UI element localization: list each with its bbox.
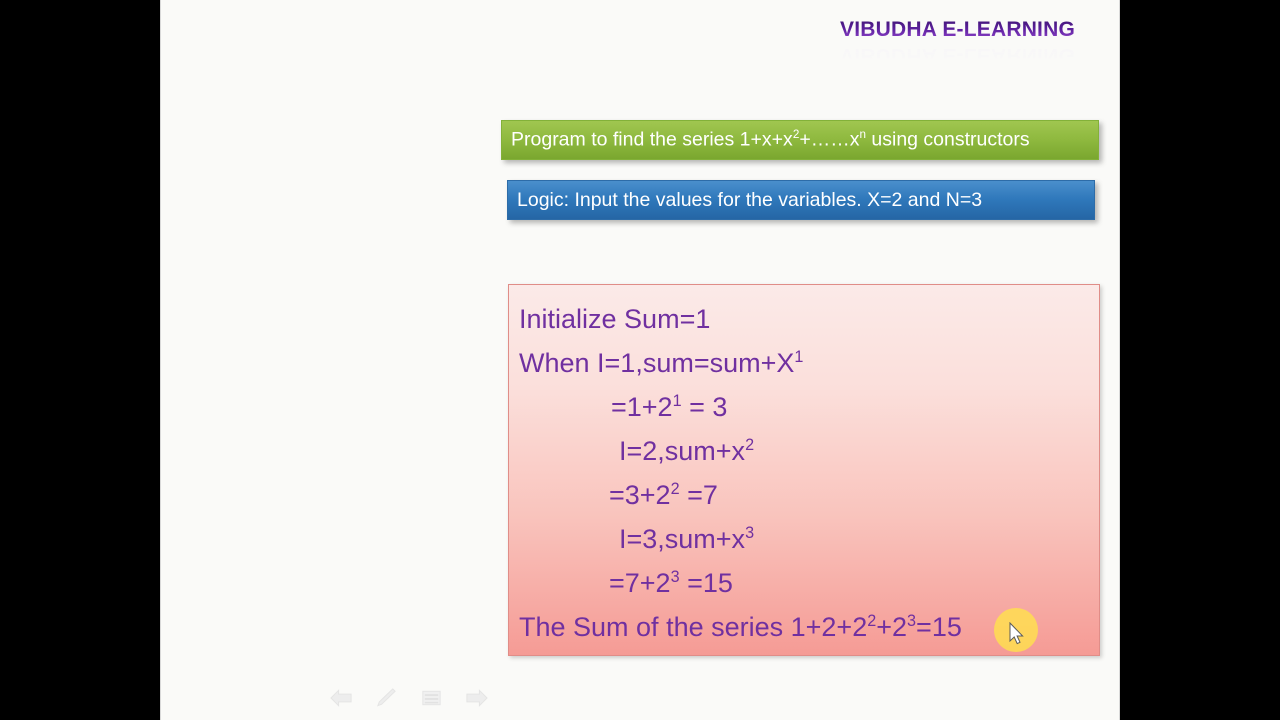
line-text: +2 [876, 612, 907, 642]
letterbox-right [1120, 0, 1280, 720]
previous-slide-icon[interactable] [329, 686, 354, 710]
content-line: I=3,sum+x3 [509, 517, 1099, 561]
brand-title: VIBUDHA E-LEARNING [840, 18, 1075, 42]
presentation-slide: VIBUDHA E-LEARNING VIBUDHA E-LEARNING Pr… [160, 0, 1120, 720]
line-text: =7 [680, 480, 718, 510]
calculation-content-box: Initialize Sum=1When I=1,sum=sum+X1=1+21… [508, 284, 1100, 656]
slide-menu-icon[interactable] [419, 686, 444, 710]
slideshow-toolbar[interactable] [329, 682, 489, 714]
line-text: The Sum of the series 1+2+2 [519, 612, 867, 642]
line-text: I=2,sum+x [619, 436, 745, 466]
exponent: 2 [867, 612, 876, 630]
exponent: 3 [907, 612, 916, 630]
next-slide-icon[interactable] [464, 686, 489, 710]
exponent: 3 [671, 568, 680, 586]
exponent: 2 [671, 480, 680, 498]
banner-green-text: Program to find the series 1+x+x2+……xn u… [511, 128, 1030, 152]
line-text: =15 [680, 568, 733, 598]
brand-logo: VIBUDHA E-LEARNING VIBUDHA E-LEARNING [840, 18, 1075, 67]
line-text: =1+2 [611, 392, 673, 422]
line-text: =7+2 [609, 568, 671, 598]
line-text: When I=1,sum=sum+X [519, 348, 794, 378]
exponent: 1 [794, 348, 803, 366]
banner-blue-text: Logic: Input the values for the variable… [517, 189, 982, 212]
brand-title-reflection: VIBUDHA E-LEARNING [840, 43, 1075, 67]
exponent: 1 [673, 392, 682, 410]
line-text: =3+2 [609, 480, 671, 510]
line-text: = 3 [682, 392, 728, 422]
content-line: Initialize Sum=1 [509, 297, 1099, 341]
video-frame: VIBUDHA E-LEARNING VIBUDHA E-LEARNING Pr… [0, 0, 1280, 720]
exponent: 2 [745, 436, 754, 454]
title-banner-green: Program to find the series 1+x+x2+……xn u… [501, 120, 1099, 160]
content-line: =1+21 = 3 [509, 385, 1099, 429]
content-line: =7+23 =15 [509, 561, 1099, 605]
logic-banner-blue: Logic: Input the values for the variable… [507, 180, 1095, 220]
line-text: =15 [916, 612, 962, 642]
content-line: When I=1,sum=sum+X1 [509, 341, 1099, 385]
pen-icon[interactable] [374, 686, 399, 710]
exponent: 3 [745, 524, 754, 542]
line-text: Initialize Sum=1 [519, 304, 710, 334]
mouse-cursor-icon [1009, 622, 1025, 646]
line-text: I=3,sum+x [619, 524, 745, 554]
content-line: I=2,sum+x2 [509, 429, 1099, 473]
content-line: =3+22 =7 [509, 473, 1099, 517]
letterbox-left [0, 0, 160, 720]
